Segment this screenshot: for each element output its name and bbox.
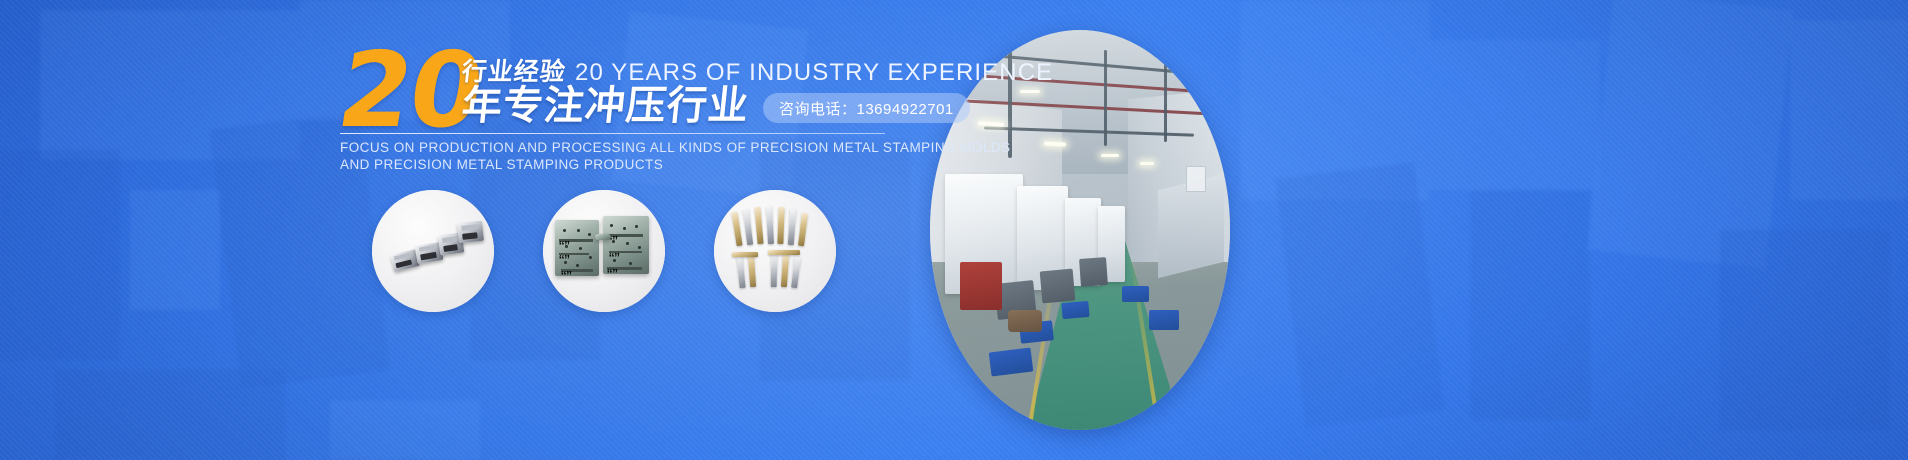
product-circle-brass-terminal-pins[interactable]: [714, 190, 836, 312]
headline-row-primary: 行业经验 20 YEARS OF INDUSTRY EXPERIENCE: [462, 52, 1053, 88]
terminal-pin: [777, 207, 784, 244]
subtitle-line-2: AND PRECISION METAL STAMPING PRODUCTS: [340, 156, 900, 173]
subtitle-block: FOCUS ON PRODUCTION AND PROCESSING ALL K…: [340, 139, 900, 173]
subtitle-line-1: FOCUS ON PRODUCTION AND PROCESSING ALL K…: [340, 139, 900, 156]
product-circle-usb-connector-shells[interactable]: [372, 190, 494, 312]
pin-carrier-strip: [732, 252, 758, 257]
headline-divider: [340, 133, 885, 134]
mold-bridge: [595, 234, 611, 240]
headline-en-small: 20 YEARS OF INDUSTRY EXPERIENCE: [575, 59, 1053, 87]
product-circle-stamping-mold-die[interactable]: [543, 190, 665, 312]
photo-sheen: [930, 30, 1230, 430]
pin-carrier-strip: [768, 250, 800, 255]
factory-workshop-photo[interactable]: [930, 30, 1230, 430]
phone-badge[interactable]: 咨询电话：13694922701: [763, 93, 970, 123]
connector-part: [457, 221, 484, 244]
company-hero-banner: 20 行业经验 20 YEARS OF INDUSTRY EXPERIENCE …: [0, 0, 1908, 460]
mold-half-right: [603, 216, 649, 274]
headline-cn-large: 年专注冲压行业: [460, 84, 752, 128]
terminal-pin: [771, 253, 778, 287]
mold-half-left: [555, 220, 599, 276]
headline-row-secondary: 年专注冲压行业 咨询电话：13694922701: [462, 84, 970, 128]
headline-cn-small: 行业经验: [460, 52, 568, 88]
